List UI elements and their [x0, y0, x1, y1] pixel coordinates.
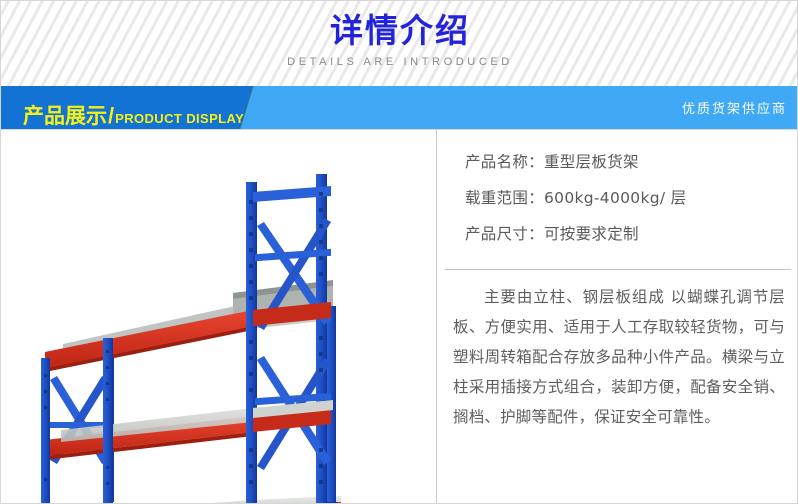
page-title-block: 详情介绍 DETAILS ARE INTRODUCED	[1, 11, 798, 69]
spec-list: 产品名称：重型层板货架 载重范围：600kg-4000kg/ 层 产品尺寸：可按…	[437, 144, 798, 252]
product-image	[1, 130, 435, 504]
product-display-banner: 产品展示/PRODUCT DISPLAY 优质货架供应商	[1, 86, 798, 129]
shelving-rack-illustration	[1, 130, 435, 504]
banner-tag-text: 产品展示/PRODUCT DISPLAY	[23, 100, 244, 129]
product-info-panel: 产品名称：重型层板货架 载重范围：600kg-4000kg/ 层 产品尺寸：可按…	[437, 130, 798, 504]
banner-label-en: PRODUCT DISPLAY	[115, 111, 244, 126]
spec-dimensions: 产品尺寸：可按要求定制	[465, 216, 798, 252]
spec-product-name: 产品名称：重型层板货架	[465, 144, 798, 180]
supplier-slogan: 优质货架供应商	[682, 98, 787, 117]
banner-slash: /	[107, 103, 115, 128]
product-description: 主要由立柱、钢层板组成 以蝴蝶孔调节层板、方便实用、适用于人工存取较轻货物，可与…	[437, 282, 798, 432]
content-area: 产品名称：重型层板货架 载重范围：600kg-4000kg/ 层 产品尺寸：可按…	[1, 129, 798, 504]
product-detail-page: 详情介绍 DETAILS ARE INTRODUCED 产品展示/PRODUCT…	[0, 0, 798, 504]
page-title: 详情介绍	[1, 11, 798, 51]
spec-load-range: 载重范围：600kg-4000kg/ 层	[465, 180, 798, 216]
banner-label-cn: 产品展示	[23, 104, 107, 128]
page-subtitle: DETAILS ARE INTRODUCED	[1, 55, 798, 69]
horizontal-divider	[445, 269, 791, 270]
